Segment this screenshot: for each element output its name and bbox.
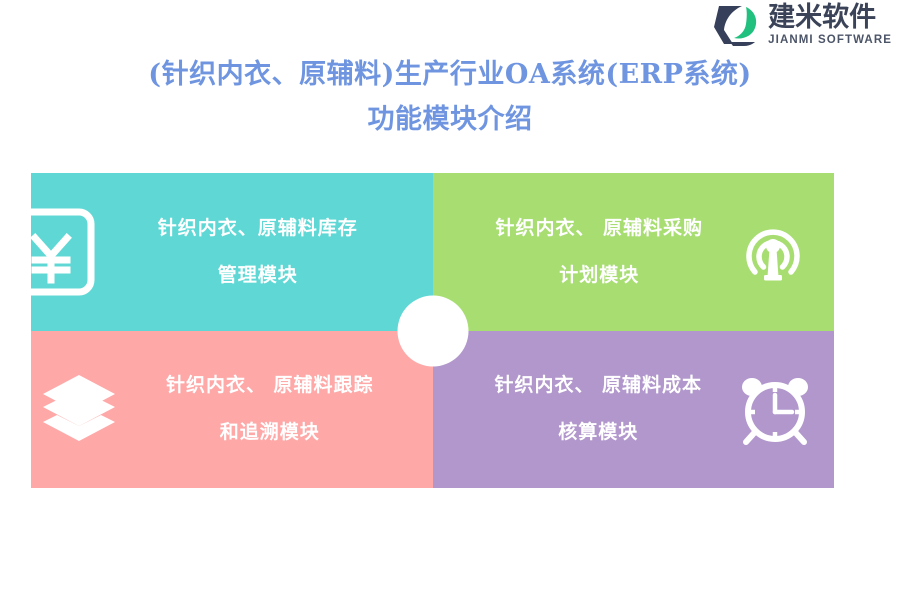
center-circle-hub — [397, 295, 468, 366]
module-card-inventory[interactable]: 针织内衣、原辅料库存 管理模块 — [31, 173, 433, 331]
module-card-purchase-plan[interactable]: 针织内衣、 原辅料采购 计划模块 — [433, 173, 835, 331]
alarm-clock-icon — [736, 370, 814, 448]
broadcast-tower-icon — [736, 215, 810, 289]
slide-canvas: 建米软件 JIANMI SOFTWARE (针织内衣、原辅料)生产行业OA系统(… — [0, 0, 900, 600]
page-title-line-2: 功能模块介绍 — [0, 97, 900, 142]
module-card-tracking[interactable]: 针织内衣、 原辅料跟踪 和追溯模块 — [31, 331, 433, 489]
page-title-line-1: (针织内衣、原辅料)生产行业OA系统(ERP系统) — [0, 52, 900, 97]
brand-text: 建米软件 JIANMI SOFTWARE — [768, 4, 892, 47]
brand-name-cn: 建米软件 — [768, 4, 876, 31]
brand-name-en: JIANMI SOFTWARE — [768, 35, 892, 47]
module-card-cost-accounting[interactable]: 针织内衣、 原辅料成本 核算模块 — [433, 331, 835, 489]
brand-logo: 建米软件 JIANMI SOFTWARE — [711, 2, 892, 48]
yen-box-icon — [31, 206, 97, 298]
layers-stack-icon — [37, 367, 121, 451]
page-title: (针织内衣、原辅料)生产行业OA系统(ERP系统) 功能模块介绍 — [0, 52, 900, 142]
jianmi-logo-mark-icon — [711, 2, 761, 48]
module-grid: 针织内衣、原辅料库存 管理模块 针织内衣、 原辅料采购 计划模块 — [31, 173, 834, 488]
